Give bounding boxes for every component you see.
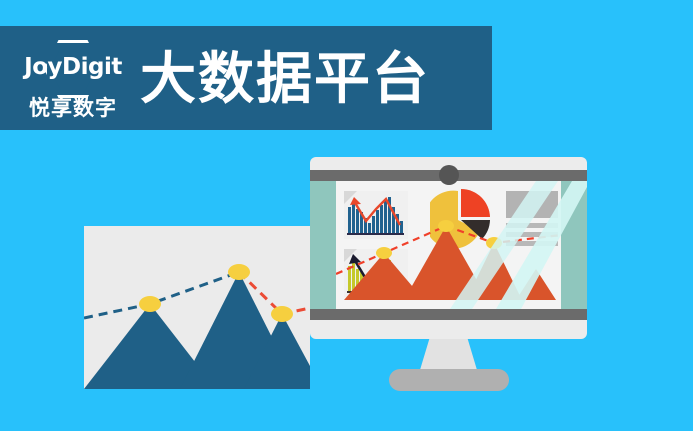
data-marker-3 [271, 306, 293, 322]
logo-english-text: JoyDigit [14, 54, 132, 80]
monitor-power-indicator [439, 165, 459, 185]
trend-dash-left [84, 272, 239, 318]
monitor-stand-base [389, 369, 509, 391]
monitor-bottom-bezel [310, 309, 587, 320]
monitor-screen [310, 181, 587, 309]
screen-side-band-left [310, 181, 336, 309]
data-marker-2 [228, 264, 250, 280]
data-marker-1 [376, 247, 392, 259]
blue-mountain-svg [84, 226, 310, 389]
page-title: 大数据平台 [140, 48, 430, 110]
orange-peak-far-right [516, 269, 556, 300]
data-marker-2 [438, 220, 454, 232]
orange-mountain-chart [336, 181, 561, 309]
brand-logo: JoyDigit 悦享数字 [14, 38, 132, 120]
dashboard-content [336, 181, 561, 309]
header-banner: JoyDigit 悦享数字 大数据平台 [0, 26, 492, 130]
logo-chinese-text: 悦享数字 [14, 92, 132, 122]
screen-side-band-right [561, 181, 587, 309]
data-marker-3 [486, 237, 502, 249]
blue-mountain-chart [84, 226, 310, 389]
orange-peak-right [466, 243, 522, 300]
poster-canvas: JoyDigit 悦享数字 大数据平台 [0, 0, 693, 431]
data-marker-1 [139, 296, 161, 312]
